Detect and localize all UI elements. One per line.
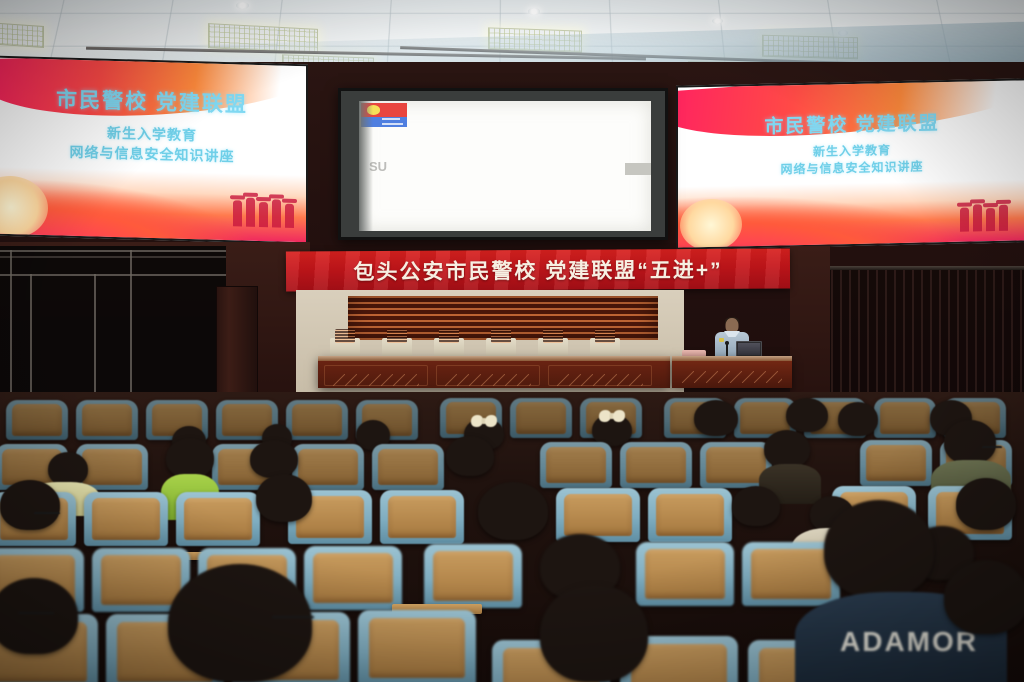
hair-bow (471, 415, 497, 427)
stage-chair[interactable] (330, 338, 360, 356)
slide-line (382, 118, 400, 120)
audience-seat[interactable] (84, 492, 168, 546)
audience-seat[interactable] (286, 400, 348, 440)
projection-screen-surface: SU (359, 101, 651, 231)
table-carved-pattern (557, 374, 643, 386)
stage-table-panel (436, 365, 540, 386)
audience-seat[interactable] (76, 400, 138, 440)
person-head (824, 500, 934, 598)
stage-chair[interactable] (434, 338, 464, 356)
table-carved-pattern (333, 374, 419, 386)
audience-seat[interactable] (380, 490, 464, 544)
side-exit-door[interactable] (216, 286, 258, 398)
side-stage-curtain (822, 270, 1024, 410)
truss-bar (0, 256, 226, 258)
led-right-sun-graphic (680, 198, 742, 249)
officer-badge-icon (719, 338, 724, 342)
podium-top-edge (672, 356, 792, 361)
projection-edge-text: SU (369, 159, 387, 174)
ceiling-light-panel (0, 22, 44, 48)
audience-seat[interactable] (636, 542, 734, 606)
led-left-officer-silhouettes (233, 196, 294, 228)
hair-bow (599, 410, 625, 422)
projection-right-tab (625, 163, 651, 175)
stage-table-panel (324, 365, 428, 386)
audience-seat[interactable] (358, 610, 476, 682)
person-head (168, 564, 312, 682)
eyeglasses (34, 512, 60, 515)
eyeglasses (982, 446, 1002, 449)
person-head (166, 438, 214, 478)
desk-microphone-icon (726, 344, 728, 356)
podium-carved-pattern (682, 371, 783, 383)
audience-seat[interactable] (874, 398, 936, 438)
right-wall-panel (790, 246, 830, 408)
audience-seat[interactable] (304, 546, 402, 610)
audience-seat[interactable] (620, 442, 692, 488)
person-head (956, 478, 1016, 530)
truss-bar (130, 250, 132, 396)
stage-head-table (318, 356, 670, 388)
truss-bar (94, 274, 96, 396)
person-head (48, 452, 88, 486)
stage-chair[interactable] (538, 338, 568, 356)
stage-table-top-edge (318, 356, 670, 361)
truss-bar (30, 274, 32, 396)
curtain-rail (812, 266, 1024, 270)
person-head (944, 420, 996, 464)
stage-chair-row (330, 338, 620, 356)
person-head (256, 474, 312, 522)
slide-line (382, 123, 403, 125)
person-head (838, 402, 878, 436)
person-head (478, 482, 548, 540)
audience-seat[interactable] (648, 488, 732, 542)
speaker-laptop[interactable] (736, 341, 762, 357)
audience-seat[interactable] (372, 444, 444, 490)
speaker-podium-desk (672, 356, 792, 388)
event-banner: 包头公安市民警校 党建联盟“五进+” (286, 248, 790, 291)
person-head (944, 560, 1024, 634)
stage-truss-structure (0, 246, 226, 396)
stage-chair[interactable] (486, 338, 516, 356)
eyeglasses (18, 612, 54, 615)
stage-chair[interactable] (590, 338, 620, 356)
audience-seat[interactable] (540, 442, 612, 488)
stage-chair-back (595, 329, 615, 343)
audience-seat[interactable] (556, 488, 640, 542)
truss-bar (10, 250, 12, 396)
person-head (0, 480, 60, 530)
audience-seat[interactable] (6, 400, 68, 440)
person-head (694, 400, 738, 436)
person-head (786, 398, 828, 432)
led-right-officer-silhouettes (960, 203, 1008, 232)
projection-screen-frame: SU (338, 88, 668, 240)
person-head (446, 436, 494, 476)
stage-table-panel (548, 365, 652, 386)
person-head (0, 578, 78, 654)
ceiling-downlight (712, 18, 723, 24)
led-screen-left: 市民警校 党建联盟 新生入学教育 网络与信息安全知识讲座 (0, 56, 308, 245)
truss-bar (0, 250, 226, 252)
ceiling-downlight (528, 8, 540, 15)
auditorium-photo: 市民警校 党建联盟 新生入学教育 网络与信息安全知识讲座 市民警校 党建联盟 新… (0, 0, 1024, 682)
led-screen-right: 市民警校 党建联盟 新生入学教育 网络与信息安全知识讲座 (676, 78, 1024, 249)
eyeglasses (272, 616, 314, 619)
stage-chair-back (387, 329, 407, 343)
stage-chair-back (543, 329, 563, 343)
stage-chair-back (491, 329, 511, 343)
audience-seat[interactable] (176, 492, 260, 546)
ceiling-downlight (236, 2, 249, 9)
person-head (540, 584, 648, 682)
truss-bar (0, 274, 226, 276)
event-banner-text: 包头公安市民警校 党建联盟“五进+” (353, 254, 722, 286)
stage-chair-back (335, 329, 355, 343)
person-head (764, 430, 810, 468)
stage-chair[interactable] (382, 338, 412, 356)
audience-seat[interactable] (860, 440, 932, 486)
table-carved-pattern (445, 374, 531, 386)
officer-head (726, 318, 739, 333)
stage-chair-back (439, 329, 459, 343)
audience-seat[interactable] (510, 398, 572, 438)
audience-seat[interactable] (424, 544, 522, 608)
laptop-screen (738, 343, 760, 355)
person-head (250, 440, 298, 478)
person-head (732, 486, 780, 526)
